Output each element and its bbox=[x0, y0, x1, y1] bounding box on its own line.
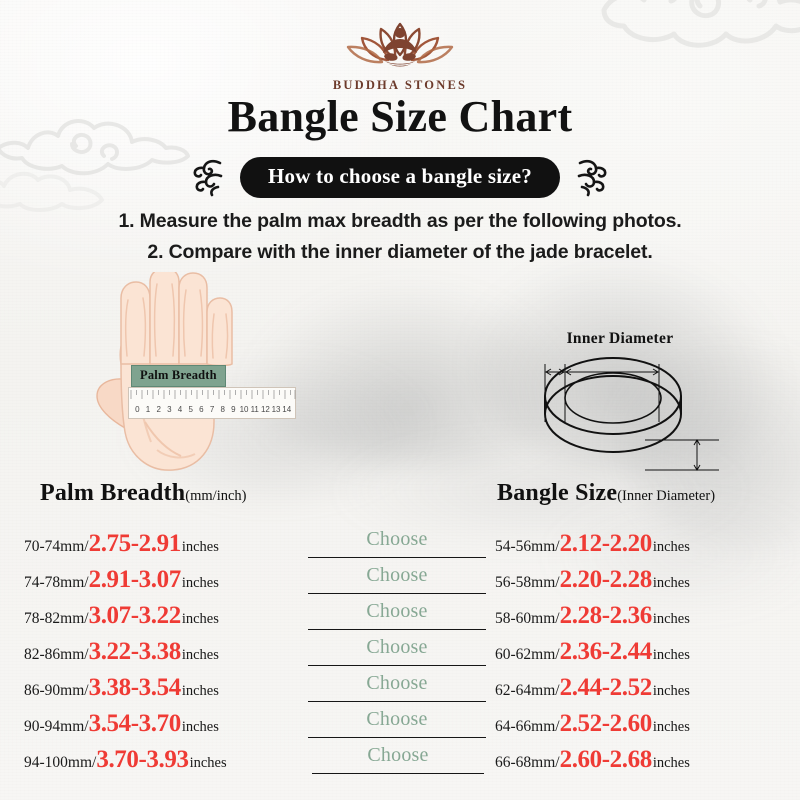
bangle-mm-value: 62-64mm/ bbox=[495, 682, 560, 700]
bangle-size-chart-page: BUDDHA STONES Bangle Size Chart How to c… bbox=[0, 0, 800, 800]
bangle-unit-label: inches bbox=[653, 755, 690, 772]
bangle-size-unit-note: (Inner Diameter) bbox=[617, 488, 715, 504]
palm-unit-label: inches bbox=[182, 647, 219, 664]
palm-inch-value: 3.07-3.22 bbox=[89, 602, 181, 630]
bangle-size-cell: 56-58mm/ 2.20-2.28 inches bbox=[495, 566, 690, 594]
subtitle-pill: How to choose a bangle size? bbox=[240, 157, 560, 198]
choose-label: Choose bbox=[366, 528, 427, 551]
bangle-inch-value: 2.60-2.68 bbox=[560, 746, 652, 774]
palm-mm-value: 86-90mm/ bbox=[24, 682, 89, 700]
choose-button[interactable]: Choose bbox=[308, 561, 486, 594]
palm-inch-value: 3.38-3.54 bbox=[89, 674, 181, 702]
choose-label: Choose bbox=[367, 744, 428, 767]
ruler-number: 10 bbox=[239, 405, 250, 414]
choose-label: Choose bbox=[366, 636, 427, 659]
palm-unit-label: inches bbox=[190, 755, 227, 772]
palm-inch-value: 3.70-3.93 bbox=[96, 746, 188, 774]
palm-unit-label: inches bbox=[182, 539, 219, 556]
bangle-inch-value: 2.20-2.28 bbox=[560, 566, 652, 594]
palm-breadth-column-header: Palm Breadth(mm/inch) bbox=[40, 480, 247, 507]
palm-mm-value: 82-86mm/ bbox=[24, 646, 89, 664]
ruler-number: 7 bbox=[207, 405, 218, 414]
bangle-mm-value: 64-66mm/ bbox=[495, 718, 560, 736]
bangle-size-column-header: Bangle Size(Inner Diameter) bbox=[497, 480, 715, 507]
bangle-size-cell: 58-60mm/ 2.28-2.36 inches bbox=[495, 602, 690, 630]
cloud-swirl-ornament-right-icon bbox=[572, 156, 612, 198]
bangle-unit-label: inches bbox=[653, 575, 690, 592]
palm-mm-value: 90-94mm/ bbox=[24, 718, 89, 736]
choose-button[interactable]: Choose bbox=[308, 525, 486, 558]
ruler-number: 0 bbox=[132, 405, 143, 414]
ruler-number: 5 bbox=[185, 405, 196, 414]
choose-button[interactable]: Choose bbox=[308, 597, 486, 630]
instructions-block: 1. Measure the palm max breadth as per t… bbox=[0, 206, 800, 268]
palm-mm-value: 94-100mm/ bbox=[24, 754, 96, 772]
subtitle-row: How to choose a bangle size? bbox=[0, 156, 800, 198]
bangle-unit-label: inches bbox=[653, 719, 690, 736]
ruler-number: 6 bbox=[196, 405, 207, 414]
palm-inch-value: 3.54-3.70 bbox=[89, 710, 181, 738]
choose-button[interactable]: Choose bbox=[308, 633, 486, 666]
bangle-illustration: Inner Diameter bbox=[505, 330, 735, 480]
choose-label: Choose bbox=[366, 672, 427, 695]
ruler-number: 2 bbox=[153, 405, 164, 414]
palm-inch-value: 2.91-3.07 bbox=[89, 566, 181, 594]
choose-button[interactable]: Choose bbox=[308, 705, 486, 738]
table-row: 74-78mm/ 2.91-3.07 inches Choose 56-58mm… bbox=[0, 560, 800, 596]
bangle-mm-value: 58-60mm/ bbox=[495, 610, 560, 628]
palm-mm-value: 74-78mm/ bbox=[24, 574, 89, 592]
palm-unit-label: inches bbox=[182, 611, 219, 628]
palm-breadth-unit-note: (mm/inch) bbox=[185, 488, 246, 504]
table-row: 78-82mm/ 3.07-3.22 inches Choose 58-60mm… bbox=[0, 596, 800, 632]
palm-breadth-title: Palm Breadth bbox=[40, 480, 185, 506]
bangle-unit-label: inches bbox=[653, 611, 690, 628]
palm-breadth-cell: 94-100mm/ 3.70-3.93 inches bbox=[24, 746, 227, 774]
palm-unit-label: inches bbox=[182, 719, 219, 736]
palm-mm-value: 78-82mm/ bbox=[24, 610, 89, 628]
inner-diameter-caption: Inner Diameter bbox=[505, 330, 735, 348]
palm-inch-value: 2.75-2.91 bbox=[89, 530, 181, 558]
bangle-size-cell: 64-66mm/ 2.52-2.60 inches bbox=[495, 710, 690, 738]
palm-breadth-cell: 86-90mm/ 3.38-3.54 inches bbox=[24, 674, 219, 702]
palm-breadth-badge: Palm Breadth bbox=[131, 365, 226, 387]
choose-label: Choose bbox=[366, 564, 427, 587]
ruler-number: 13 bbox=[271, 405, 282, 414]
choose-button[interactable]: Choose bbox=[312, 741, 484, 774]
bangle-size-cell: 60-62mm/ 2.36-2.44 inches bbox=[495, 638, 690, 666]
ruler-number: 4 bbox=[175, 405, 186, 414]
bangle-size-cell: 66-68mm/ 2.60-2.68 inches bbox=[495, 746, 690, 774]
palm-inch-value: 3.22-3.38 bbox=[89, 638, 181, 666]
ruler-numbers: 0 1 2 3 4 5 6 7 8 9 10 11 12 13 14 bbox=[129, 401, 295, 418]
bangle-inch-value: 2.28-2.36 bbox=[560, 602, 652, 630]
ruler-number: 12 bbox=[260, 405, 271, 414]
palm-breadth-cell: 90-94mm/ 3.54-3.70 inches bbox=[24, 710, 219, 738]
bangle-unit-label: inches bbox=[653, 683, 690, 700]
bangle-unit-label: inches bbox=[653, 647, 690, 664]
bangle-inch-value: 2.44-2.52 bbox=[560, 674, 652, 702]
table-row: 94-100mm/ 3.70-3.93 inches Choose 66-68m… bbox=[0, 740, 800, 776]
table-row: 86-90mm/ 3.38-3.54 inches Choose 62-64mm… bbox=[0, 668, 800, 704]
table-row: 70-74mm/ 2.75-2.91 inches Choose 54-56mm… bbox=[0, 524, 800, 560]
bangle-inch-value: 2.12-2.20 bbox=[560, 530, 652, 558]
bangle-unit-label: inches bbox=[653, 539, 690, 556]
ruler-number: 11 bbox=[249, 405, 260, 414]
ruler-ticks bbox=[129, 390, 297, 401]
ruler-icon: 0 1 2 3 4 5 6 7 8 9 10 11 12 13 14 bbox=[128, 387, 296, 419]
bangle-size-title: Bangle Size bbox=[497, 480, 617, 506]
bangle-size-cell: 54-56mm/ 2.12-2.20 inches bbox=[495, 530, 690, 558]
palm-breadth-cell: 78-82mm/ 3.07-3.22 inches bbox=[24, 602, 219, 630]
palm-breadth-cell: 82-86mm/ 3.22-3.38 inches bbox=[24, 638, 219, 666]
cloud-swirl-ornament-left-icon bbox=[188, 156, 228, 198]
bangle-inch-value: 2.52-2.60 bbox=[560, 710, 652, 738]
ruler-number: 8 bbox=[217, 405, 228, 414]
ruler-number: 14 bbox=[281, 405, 292, 414]
bangle-inch-value: 2.36-2.44 bbox=[560, 638, 652, 666]
bangle-ring-icon bbox=[505, 330, 735, 480]
palm-unit-label: inches bbox=[182, 683, 219, 700]
palm-breadth-cell: 70-74mm/ 2.75-2.91 inches bbox=[24, 530, 219, 558]
hand-illustration: Palm Breadth bbox=[95, 272, 335, 477]
ruler-number: 3 bbox=[164, 405, 175, 414]
bangle-mm-value: 54-56mm/ bbox=[495, 538, 560, 556]
brand-logo: BUDDHA STONES bbox=[0, 14, 800, 93]
instruction-step-2: 2. Compare with the inner diameter of th… bbox=[0, 237, 800, 268]
table-row: 82-86mm/ 3.22-3.38 inches Choose 60-62mm… bbox=[0, 632, 800, 668]
bangle-mm-value: 66-68mm/ bbox=[495, 754, 560, 772]
size-table: 70-74mm/ 2.75-2.91 inches Choose 54-56mm… bbox=[0, 524, 800, 776]
choose-label: Choose bbox=[366, 600, 427, 623]
lotus-meditation-icon bbox=[340, 14, 460, 76]
bangle-mm-value: 56-58mm/ bbox=[495, 574, 560, 592]
page-title: Bangle Size Chart bbox=[0, 91, 800, 142]
bangle-mm-value: 60-62mm/ bbox=[495, 646, 560, 664]
ruler-number: 9 bbox=[228, 405, 239, 414]
bangle-size-cell: 62-64mm/ 2.44-2.52 inches bbox=[495, 674, 690, 702]
palm-breadth-cell: 74-78mm/ 2.91-3.07 inches bbox=[24, 566, 219, 594]
ruler-number: 1 bbox=[143, 405, 154, 414]
palm-unit-label: inches bbox=[182, 575, 219, 592]
choose-button[interactable]: Choose bbox=[308, 669, 486, 702]
choose-label: Choose bbox=[366, 708, 427, 731]
palm-mm-value: 70-74mm/ bbox=[24, 538, 89, 556]
instruction-step-1: 1. Measure the palm max breadth as per t… bbox=[0, 206, 800, 237]
table-row: 90-94mm/ 3.54-3.70 inches Choose 64-66mm… bbox=[0, 704, 800, 740]
